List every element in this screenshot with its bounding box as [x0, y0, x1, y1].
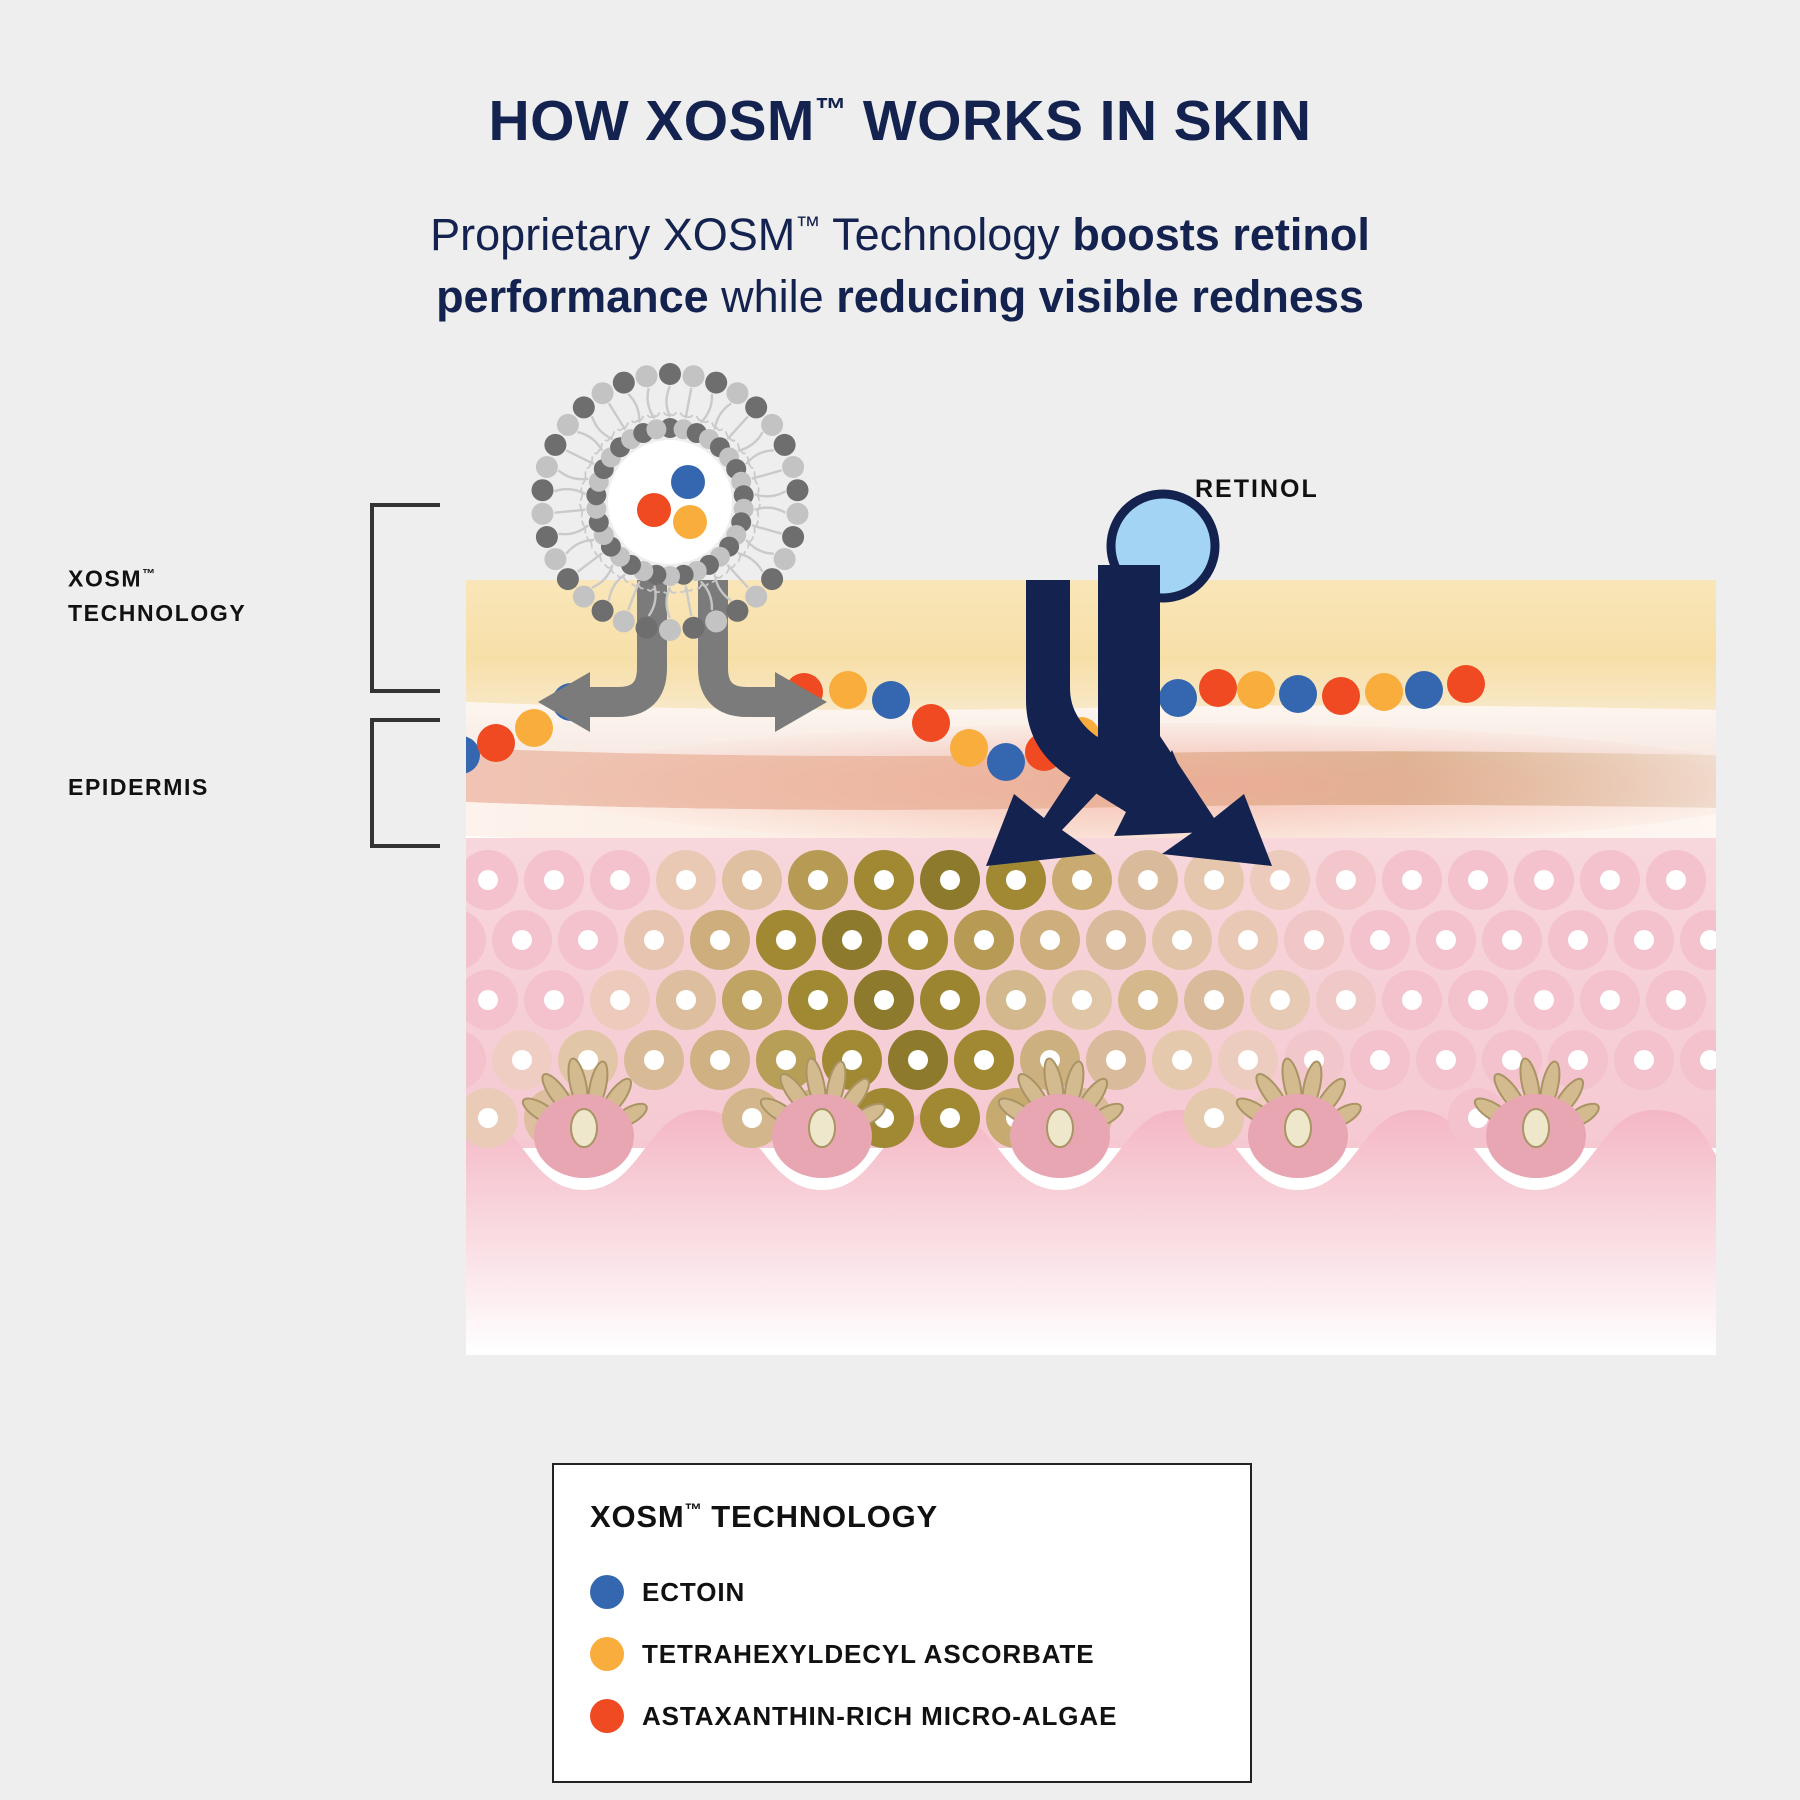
molecule-dot-astaxanthin — [477, 724, 515, 762]
liposome-tail-branch — [729, 564, 735, 568]
liposome-tail-branch — [738, 555, 740, 561]
payload-dot-astaxanthin — [637, 493, 671, 527]
liposome-tail — [648, 388, 655, 418]
layer-label-epidermis: EPIDERMIS — [68, 770, 368, 804]
liposome-tail-branch — [726, 431, 730, 437]
liposome-core — [608, 440, 732, 564]
molecule-dot-ascorbate — [1365, 673, 1403, 711]
skin-diagram-svg — [466, 580, 1716, 1355]
legend-item-label: ECTOIN — [642, 1577, 745, 1608]
liposome-head-bead — [532, 503, 554, 525]
liposome-tail-branch — [749, 536, 753, 541]
molecule-dot-ascorbate — [950, 729, 988, 767]
liposome-tail-branch — [605, 564, 611, 568]
liposome-tail-branch — [697, 584, 702, 588]
liposome-head-bead — [705, 372, 727, 394]
liposome-head-bead — [683, 365, 705, 387]
liposome-tail-branch — [595, 551, 600, 555]
liposome-tail-branch — [582, 521, 586, 527]
legend-color-dot — [590, 1637, 624, 1671]
legend-item: ASTAXANTHIN-RICH MICRO-ALGAE — [590, 1685, 1250, 1747]
molecule-dot-ectoin — [987, 743, 1025, 781]
skin-cross-section — [466, 580, 1716, 1355]
molecule-dot-astaxanthin — [1199, 669, 1237, 707]
liposome-tail-branch — [726, 567, 730, 573]
liposome-tail-branch — [647, 589, 654, 591]
liposome-tail-branch — [716, 575, 722, 578]
liposome-head-bead — [787, 503, 809, 525]
bracket-epidermis — [370, 718, 440, 848]
liposome-tail-branch — [600, 555, 602, 561]
legend-color-dot — [590, 1699, 624, 1733]
liposome-head-bead — [592, 382, 614, 404]
page-title: HOW XOSM™ WORKS IN SKIN — [0, 88, 1800, 154]
payload-dot-ascorbate — [673, 505, 707, 539]
bracket-xosm-technology — [370, 503, 440, 693]
liposome-tail — [715, 403, 731, 429]
liposome-head-bead — [536, 456, 558, 478]
liposome-tail — [555, 510, 586, 513]
liposome-tail — [667, 386, 671, 417]
liposome-head-bead — [745, 396, 767, 418]
liposome-tail-branch — [632, 420, 639, 422]
liposome-head-bead — [787, 479, 809, 501]
liposome-tail — [727, 416, 748, 439]
layer-label-xosm-line2: TECHNOLOGY — [68, 596, 368, 630]
molecule-dot-ectoin — [872, 681, 910, 719]
legend-item-label: TETRAHEXYLDECYL ASCORBATE — [642, 1639, 1095, 1670]
liposome-head-bead — [726, 600, 748, 622]
liposome-tail-branch — [755, 521, 759, 527]
legend-panel: XOSM™ TECHNOLOGY ECTOINTETRAHEXYLDECYL A… — [552, 1463, 1252, 1783]
liposome-tail-branch — [758, 504, 760, 510]
legend-title: XOSM™ TECHNOLOGY — [590, 1499, 1250, 1535]
liposome-tail — [752, 470, 782, 478]
liposome-tail-branch — [755, 478, 759, 484]
liposome-tail-branch — [738, 443, 740, 449]
liposome-head-bead — [544, 434, 566, 456]
liposome-tail — [686, 388, 692, 418]
liposome-head-bead — [726, 382, 748, 404]
subtitle-segment-1: Proprietary XOSM™ Technology — [430, 209, 1072, 260]
liposome-tail-branch — [580, 504, 582, 510]
liposome-tail-branch — [758, 510, 759, 517]
liposome-inner-bead — [646, 419, 666, 439]
liposome-tail-branch — [654, 413, 660, 417]
liposome-tail-branch — [702, 420, 709, 422]
liposome-tail — [577, 432, 602, 451]
liposome-tail-branch — [716, 427, 722, 430]
liposome-head-bead — [613, 610, 635, 632]
liposome-tail — [755, 491, 786, 496]
molecule-dot-astaxanthin — [1447, 665, 1485, 703]
liposome-tail-branch — [611, 431, 615, 437]
liposome-tail — [628, 394, 639, 423]
molecule-dot-ascorbate — [1237, 671, 1275, 709]
liposome-head-bead — [761, 414, 783, 436]
liposome-tail — [701, 394, 712, 423]
molecule-dot-ectoin — [1405, 671, 1443, 709]
molecule-dot-ectoin — [1159, 679, 1197, 717]
retinol-arrow-trunk-top — [1098, 565, 1160, 607]
liposome-head-bead — [782, 456, 804, 478]
liposome-tail-branch — [686, 589, 693, 591]
liposome-tail — [592, 416, 613, 439]
subtitle-bold-2: reducing visible redness — [836, 271, 1364, 322]
liposome-tail — [609, 403, 625, 429]
liposome-tail-branch — [624, 422, 628, 427]
liposome-head-bead — [636, 365, 658, 387]
legend-color-dot — [590, 1575, 624, 1609]
liposome-vesicle — [520, 352, 820, 652]
liposome-tail-branch — [664, 590, 670, 593]
liposome-head-bead — [774, 548, 796, 570]
liposome-tail — [746, 450, 774, 464]
liposome-tail-branch — [581, 487, 582, 494]
liposome-tail-branch — [748, 456, 749, 463]
liposome-head-bead — [705, 610, 727, 632]
liposome-head-bead — [659, 363, 681, 385]
liposome-tail-branch — [591, 541, 592, 548]
page-subtitle: Proprietary XOSM™ Technology boosts reti… — [300, 195, 1500, 328]
layer-label-xosm-line1: XOSM™ — [68, 557, 368, 596]
liposome-head-bead — [782, 526, 804, 548]
liposome-tail-branch — [638, 584, 643, 588]
molecule-dot-astaxanthin — [1322, 677, 1360, 715]
liposome-tail-branch — [697, 416, 702, 420]
liposome-head-bead — [659, 619, 681, 641]
liposome-head-bead — [636, 617, 658, 639]
legend-item-label: ASTAXANTHIN-RICH MICRO-ALGAE — [642, 1701, 1117, 1732]
liposome-tail-branch — [647, 415, 654, 417]
liposome-tail-branch — [670, 590, 676, 593]
liposome-tail-branch — [680, 589, 686, 593]
liposome-tail — [738, 432, 763, 451]
layer-label-xosm-technology: XOSM™ TECHNOLOGY — [68, 557, 368, 630]
liposome-head-bead — [544, 548, 566, 570]
liposome-head-bead — [761, 568, 783, 590]
liposome-head-bead — [536, 526, 558, 548]
liposome-head-bead — [557, 568, 579, 590]
liposome-head-bead — [683, 617, 705, 639]
legend-item: TETRAHEXYLDECYL ASCORBATE — [590, 1623, 1250, 1685]
liposome-head-bead — [557, 414, 579, 436]
liposome-head-bead — [573, 396, 595, 418]
retinol-molecule — [1075, 460, 1255, 640]
molecule-dot-ascorbate — [829, 671, 867, 709]
liposome-tail-branch — [758, 487, 759, 494]
infographic-canvas: HOW XOSM™ WORKS IN SKIN Proprietary XOSM… — [0, 0, 1800, 1800]
liposome-tail — [558, 470, 588, 479]
liposome-tail-branch — [624, 577, 628, 582]
liposome-head-bead — [592, 600, 614, 622]
liposome-tail-branch — [749, 463, 753, 468]
molecule-dot-ectoin — [1279, 675, 1317, 713]
liposome-head-bead — [745, 586, 767, 608]
liposome-head-bead — [573, 586, 595, 608]
liposome-tail-branch — [595, 449, 600, 453]
liposome-head-bead — [613, 372, 635, 394]
liposome-tail-branch — [591, 456, 592, 463]
liposome-tail-branch — [617, 427, 623, 430]
legend-rows: ECTOINTETRAHEXYLDECYL ASCORBATEASTAXANTH… — [590, 1561, 1250, 1747]
liposome-tail-branch — [729, 437, 735, 441]
liposome-head-bead — [774, 434, 796, 456]
liposome-head-bead — [532, 479, 554, 501]
molecule-dot-astaxanthin — [912, 704, 950, 742]
subtitle-segment-2: while — [709, 271, 837, 322]
molecule-dot-ascorbate — [515, 709, 553, 747]
payload-dot-ectoin — [671, 465, 705, 499]
legend-item: ECTOIN — [590, 1561, 1250, 1623]
liposome-tail-branch — [670, 412, 676, 415]
liposome-tail — [566, 450, 594, 464]
liposome-tail-branch — [686, 415, 693, 417]
liposome-tail-branch — [587, 463, 591, 468]
